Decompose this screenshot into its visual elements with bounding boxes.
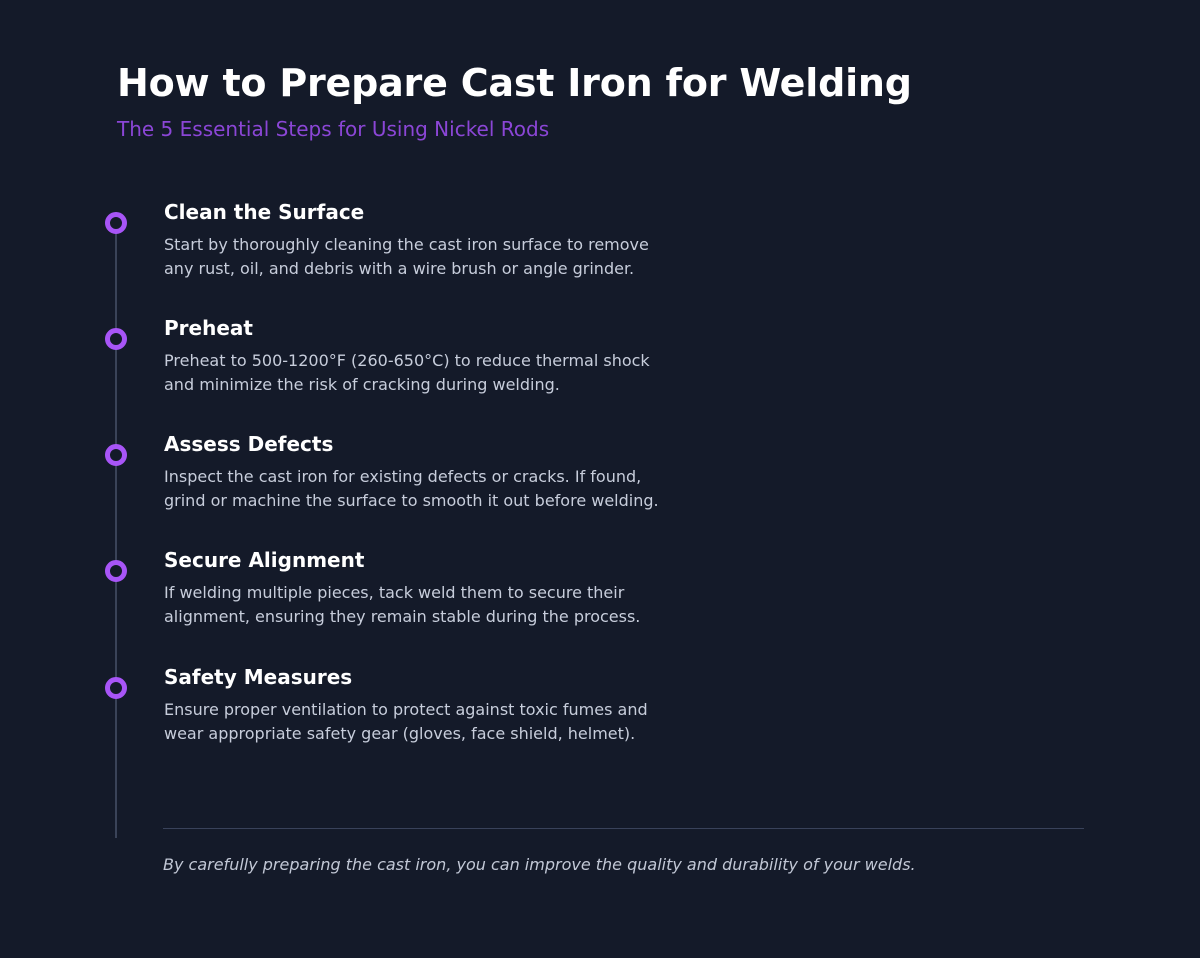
step-title: Safety Measures [164,665,984,690]
timeline-step-4: Secure Alignment If welding multiple pie… [0,560,1000,676]
step-body: Safety Measures Ensure proper ventilatio… [164,665,984,747]
footer-note: By carefully preparing the cast iron, yo… [163,854,1084,876]
step-body: Assess Defects Inspect the cast iron for… [164,432,984,514]
footer: By carefully preparing the cast iron, yo… [163,828,1084,876]
circle-ring-icon [105,677,127,699]
timeline-step-2: Preheat Preheat to 500-1200°F (260-650°C… [0,328,1000,444]
circle-ring-icon [105,444,127,466]
footer-divider [163,828,1084,829]
step-title: Assess Defects [164,432,984,457]
step-body: Preheat Preheat to 500-1200°F (260-650°C… [164,316,984,398]
circle-ring-icon [105,212,127,234]
timeline: Clean the Surface Start by thoroughly cl… [0,0,1200,958]
step-body: Secure Alignment If welding multiple pie… [164,548,984,630]
step-title: Preheat [164,316,984,341]
timeline-step-3: Assess Defects Inspect the cast iron for… [0,444,1000,560]
step-description: If welding multiple pieces, tack weld th… [164,581,664,630]
step-description: Ensure proper ventilation to protect aga… [164,698,664,747]
step-body: Clean the Surface Start by thoroughly cl… [164,200,984,282]
step-description: Preheat to 500-1200°F (260-650°C) to red… [164,349,664,398]
step-description: Start by thoroughly cleaning the cast ir… [164,233,664,282]
timeline-step-1: Clean the Surface Start by thoroughly cl… [0,212,1000,328]
step-title: Clean the Surface [164,200,984,225]
timeline-step-5: Safety Measures Ensure proper ventilatio… [0,677,1000,793]
infographic-page: How to Prepare Cast Iron for Welding The… [0,0,1200,958]
step-title: Secure Alignment [164,548,984,573]
step-description: Inspect the cast iron for existing defec… [164,465,664,514]
circle-ring-icon [105,328,127,350]
circle-ring-icon [105,560,127,582]
